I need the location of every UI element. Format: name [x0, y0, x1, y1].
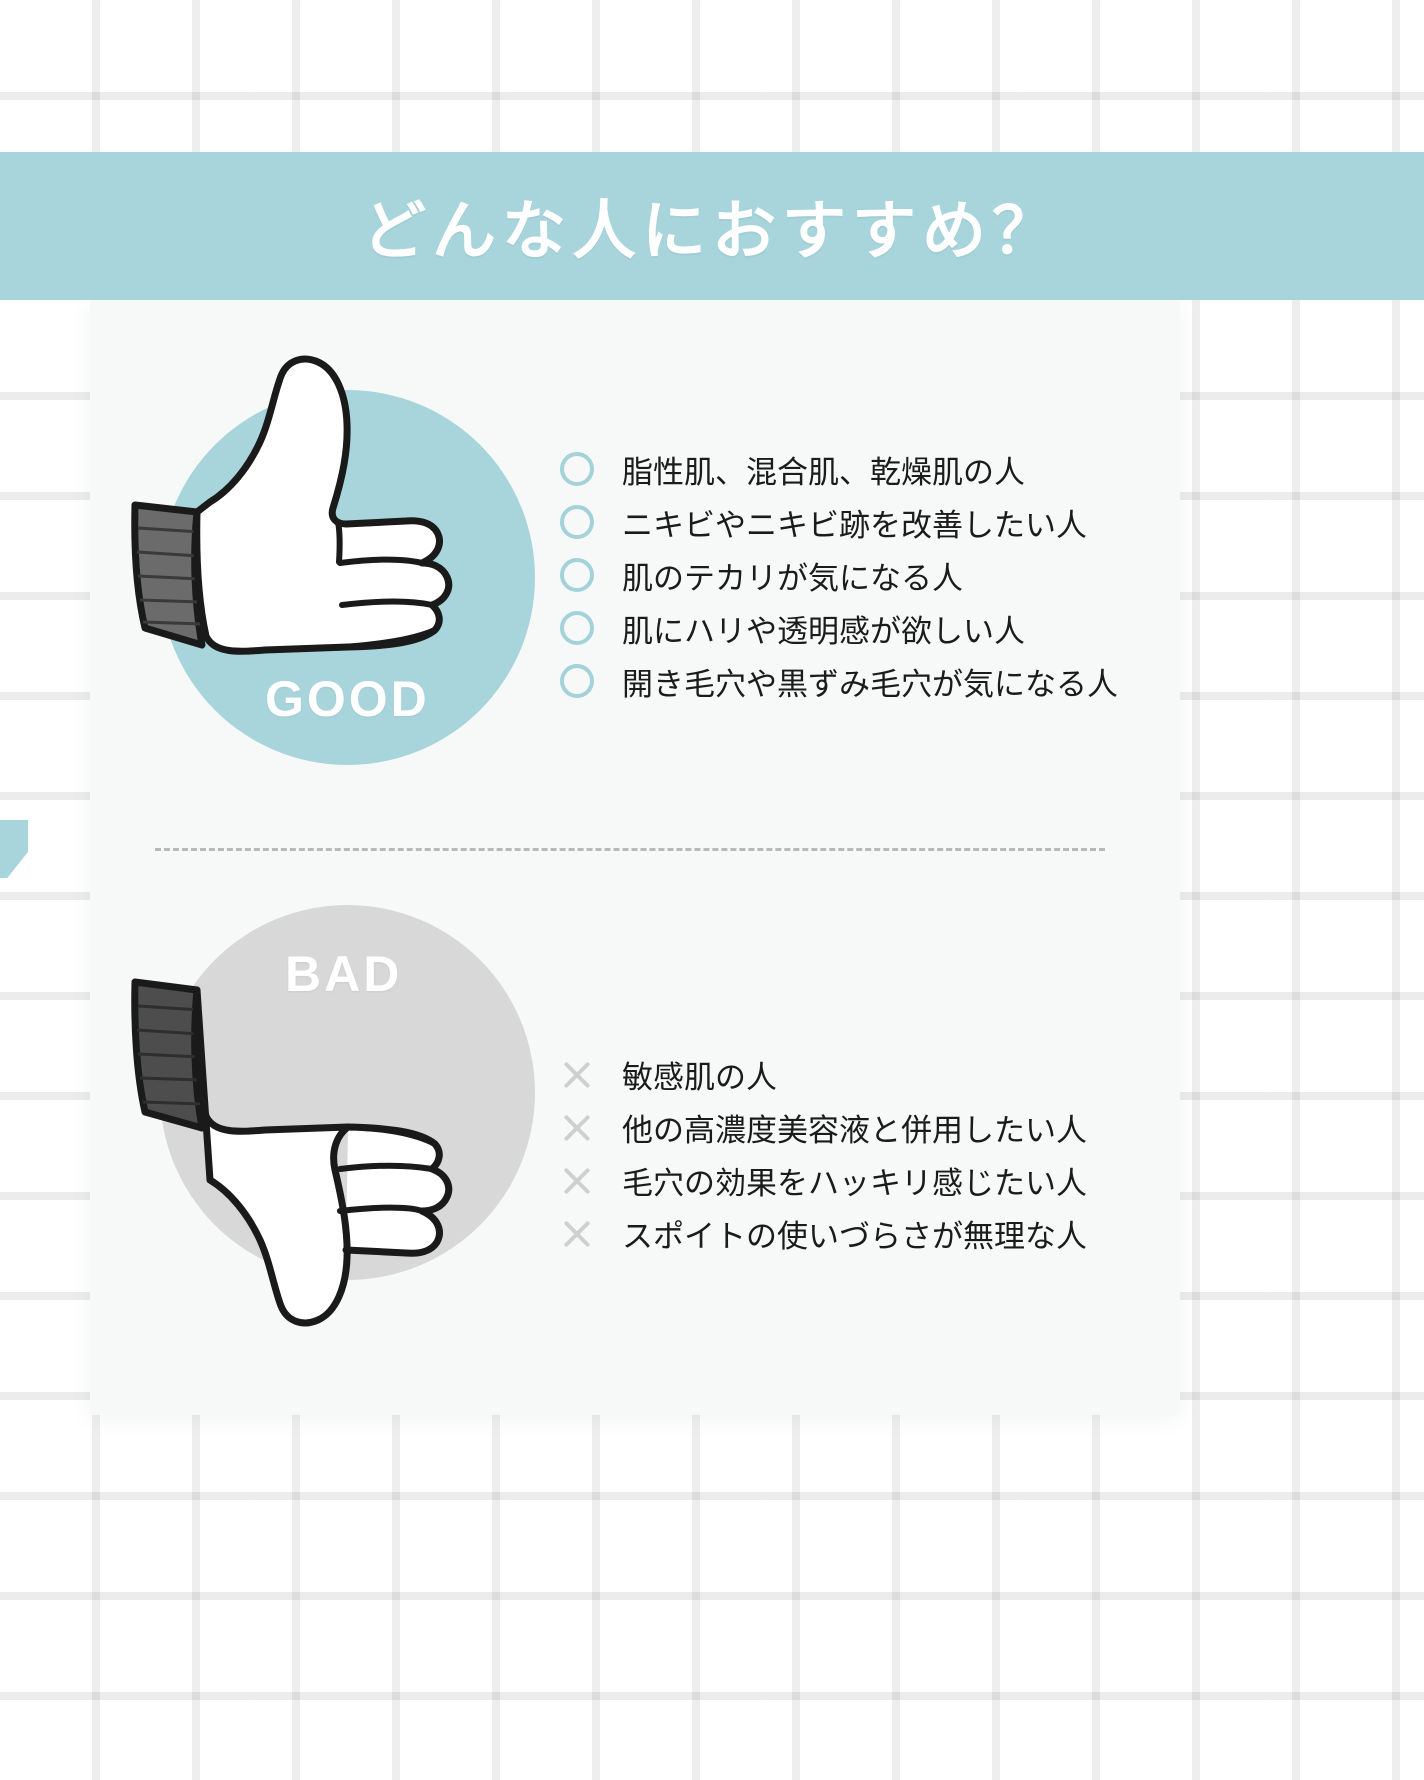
list-item: ニキビやニキビ跡を改善したい人 [560, 496, 1180, 549]
list-item-label: 他の高濃度美容液と併用したい人 [622, 1105, 1087, 1150]
header-band: どんな人におすすめ？ [0, 152, 1424, 300]
list-item-label: 敏感肌の人 [622, 1052, 777, 1097]
good-illustration: GOOD [90, 300, 560, 800]
list-item: 毛穴の効果をハッキリ感じたい人 [560, 1154, 1180, 1207]
content-card: GOOD 脂性肌、混合肌、乾燥肌の人 ニキビやニキビ跡を改善したい人 肌のテカリ… [90, 300, 1180, 1415]
bad-section: BAD 敏感肌の人 他の高濃度美容液と併用したい人 毛穴の効果をハッキリ感じたい… [90, 860, 1180, 1390]
list-item-label: 肌にハリや透明感が欲しい人 [622, 606, 1025, 651]
list-item: 脂性肌、混合肌、乾燥肌の人 [560, 443, 1180, 496]
list-item: 開き毛穴や黒ずみ毛穴が気になる人 [560, 655, 1180, 708]
good-list: 脂性肌、混合肌、乾燥肌の人 ニキビやニキビ跡を改善したい人 肌のテカリが気になる… [560, 300, 1180, 840]
bad-illustration: BAD [90, 860, 560, 1360]
circle-outline-icon [560, 611, 622, 645]
bad-list: 敏感肌の人 他の高濃度美容液と併用したい人 毛穴の効果をハッキリ感じたい人 スポ… [560, 860, 1180, 1390]
circle-outline-icon [560, 558, 622, 592]
cross-icon [560, 1164, 622, 1198]
list-item-label: 開き毛穴や黒ずみ毛穴が気になる人 [622, 659, 1118, 704]
circle-outline-icon [560, 505, 622, 539]
page-title: どんな人におすすめ？ [362, 180, 1062, 272]
thumbs-down-icon [90, 860, 560, 1360]
bad-badge-label: BAD [285, 945, 402, 1003]
list-item-label: 毛穴の効果をハッキリ感じたい人 [622, 1158, 1087, 1203]
list-item: 肌にハリや透明感が欲しい人 [560, 602, 1180, 655]
list-item-label: 脂性肌、混合肌、乾燥肌の人 [622, 447, 1025, 492]
list-item: 敏感肌の人 [560, 1048, 1180, 1101]
good-section: GOOD 脂性肌、混合肌、乾燥肌の人 ニキビやニキビ跡を改善したい人 肌のテカリ… [90, 300, 1180, 840]
list-item-label: 肌のテカリが気になる人 [622, 553, 963, 598]
cross-icon [560, 1217, 622, 1251]
list-item-label: ニキビやニキビ跡を改善したい人 [622, 500, 1087, 545]
list-item: 肌のテカリが気になる人 [560, 549, 1180, 602]
circle-outline-icon [560, 664, 622, 698]
cross-icon [560, 1058, 622, 1092]
list-item: スポイトの使いづらさが無理な人 [560, 1207, 1180, 1260]
good-badge-label: GOOD [265, 670, 430, 728]
cross-icon [560, 1111, 622, 1145]
circle-outline-icon [560, 452, 622, 486]
section-divider [155, 848, 1105, 851]
list-item: 他の高濃度美容液と併用したい人 [560, 1101, 1180, 1154]
list-item-label: スポイトの使いづらさが無理な人 [622, 1211, 1087, 1256]
